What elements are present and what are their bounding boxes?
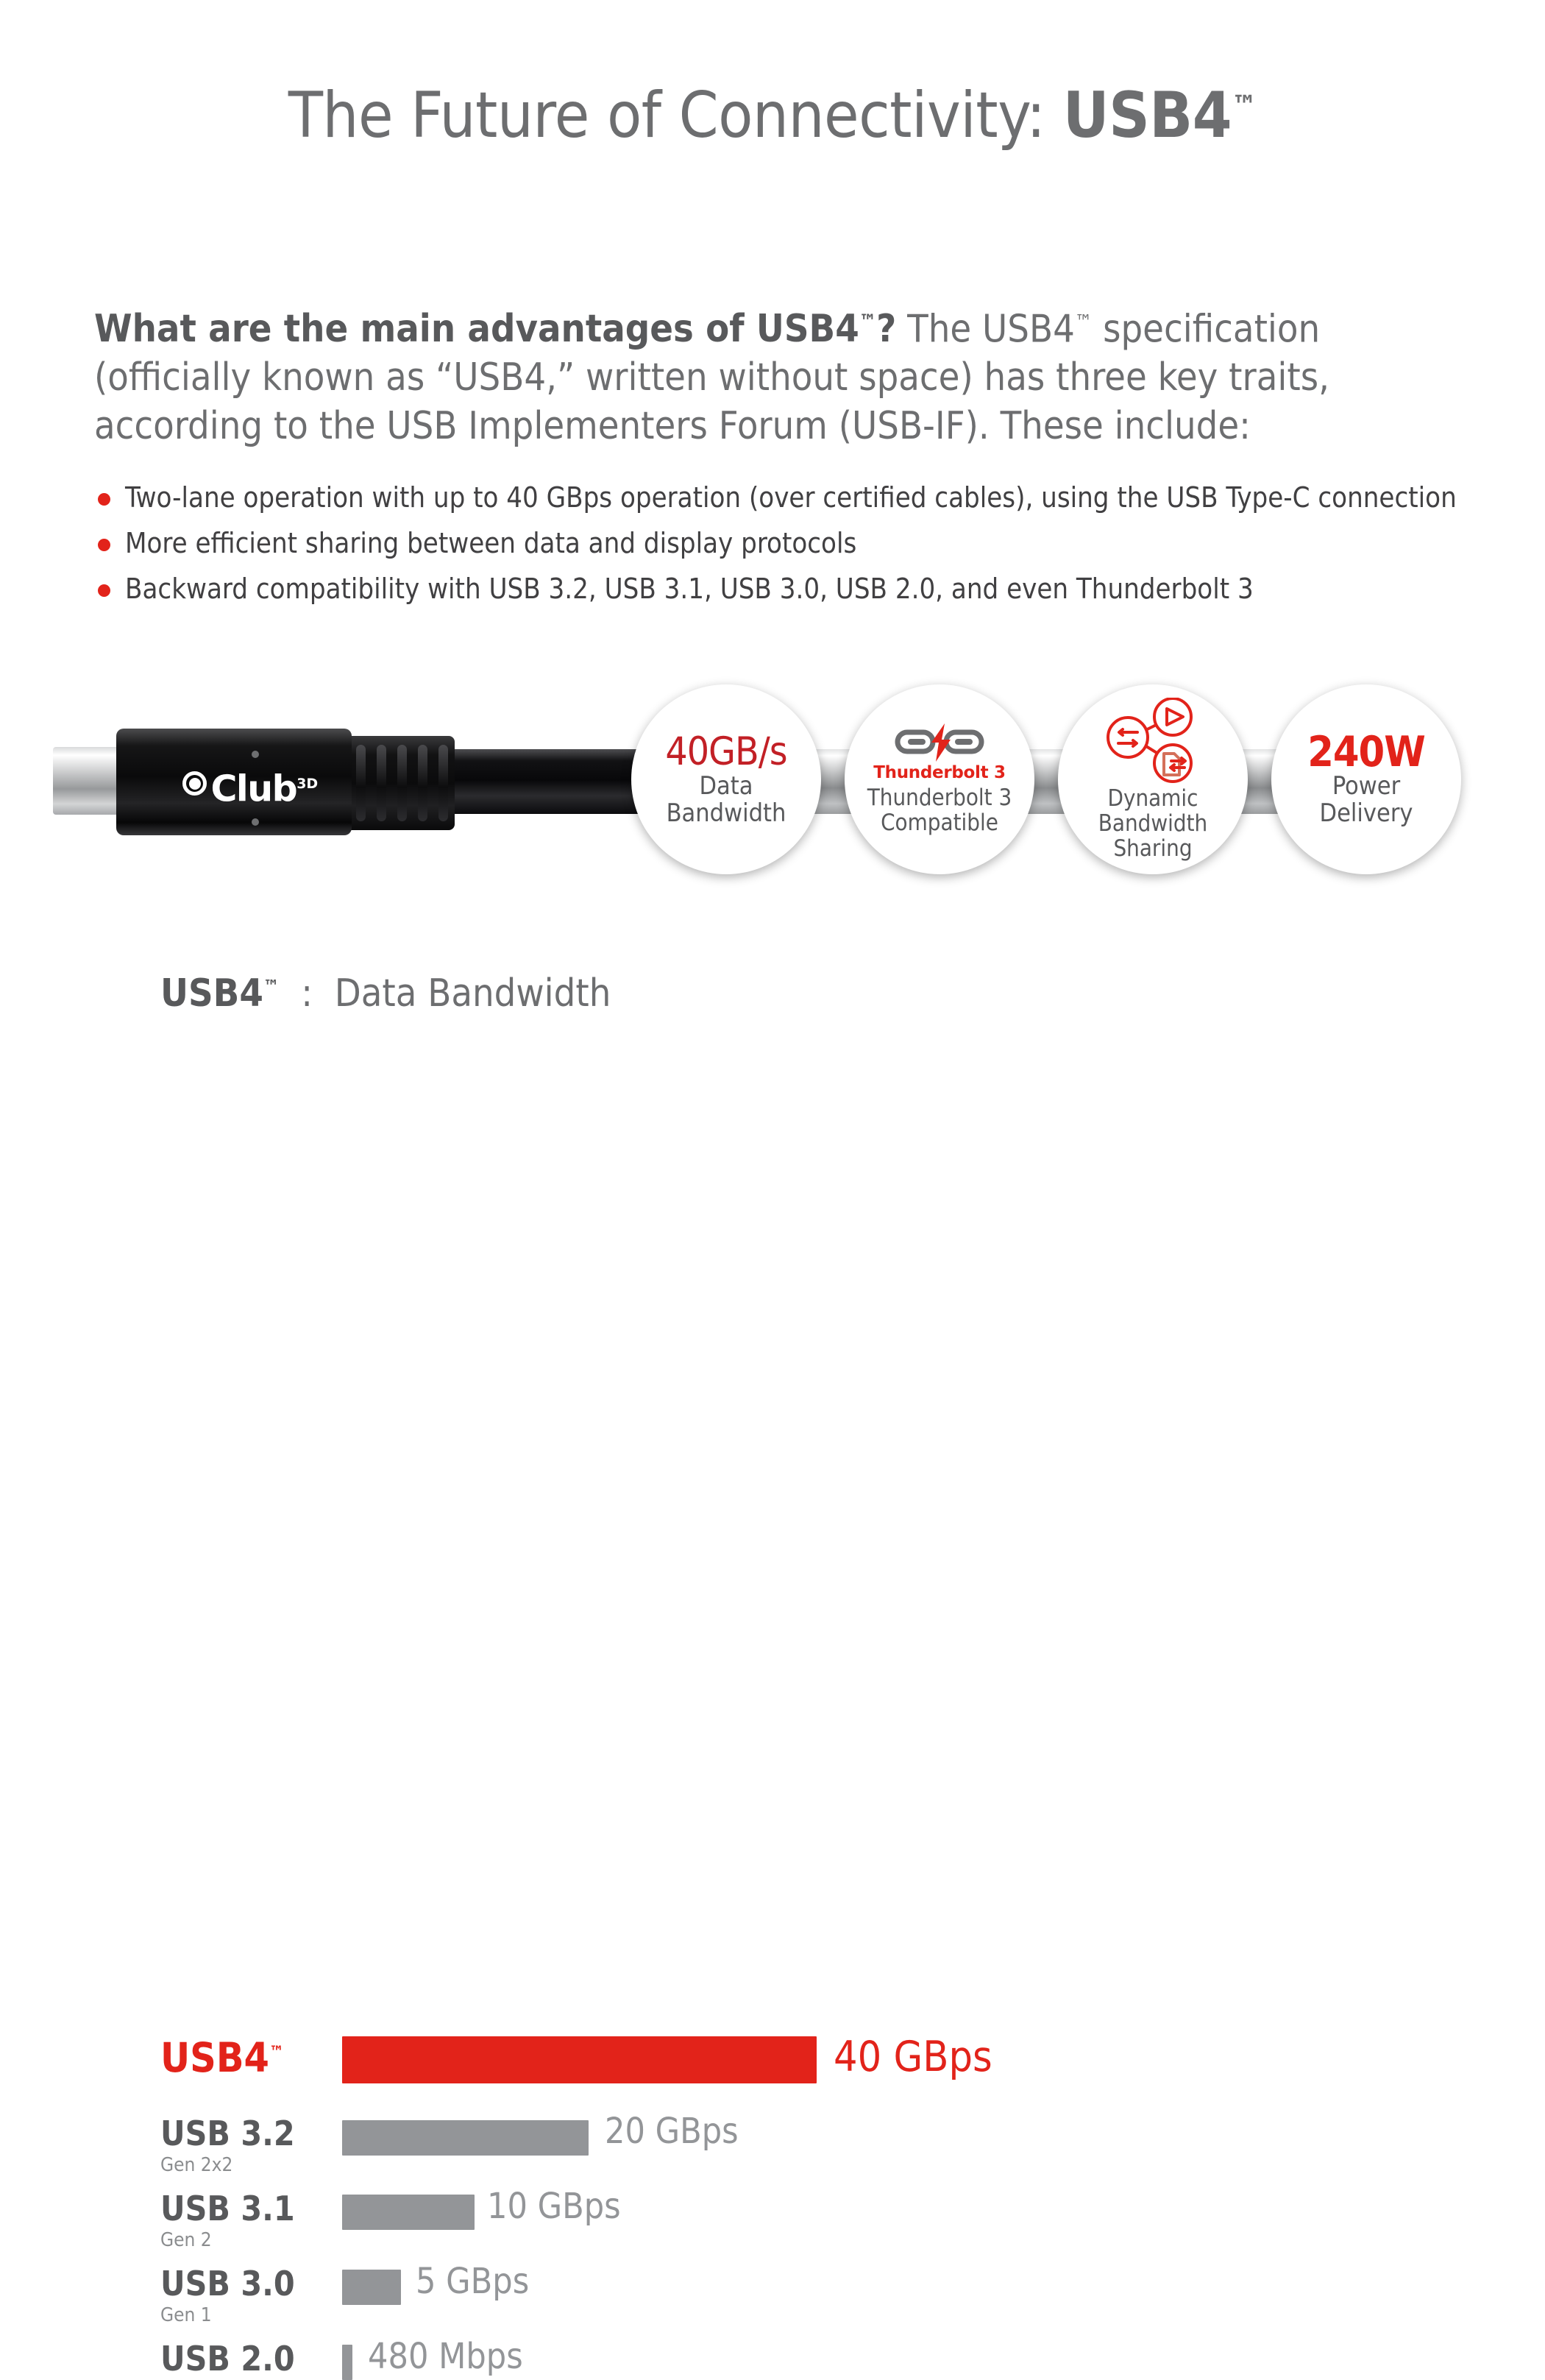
chart-title-separator: :: [301, 971, 313, 1016]
page-title-trademark: ™: [1232, 89, 1257, 121]
feature-circle-data-bandwidth: 40GB/s Data Bandwidth: [631, 684, 821, 874]
feature-caption-line-2: Compatible: [881, 810, 998, 835]
feature-circle-thunderbolt: Thunderbolt 3 Thunderbolt 3 Compatible: [845, 684, 1034, 874]
feature-caption-line-2: Bandwidth: [667, 800, 786, 827]
chart-bar-value: 20 GBps: [605, 2111, 739, 2152]
club3d-brand-sup: 3D: [296, 776, 318, 792]
chart-bar-value: 480 Mbps: [368, 2336, 523, 2377]
chart-row-sublabel: Gen 1: [160, 2304, 212, 2326]
chart-row-sublabel: Gen 2: [160, 2229, 212, 2251]
advantages-list: Two-lane operation with up to 40 GBps op…: [94, 475, 1477, 612]
list-item: More efficient sharing between data and …: [94, 520, 1477, 566]
share-network-icon: [1105, 698, 1201, 785]
thunderbolt-icon: [893, 723, 986, 762]
chart-bar: [342, 2345, 352, 2380]
thunderbolt-logo-text: Thunderbolt 3: [873, 763, 1005, 782]
club3d-brand-logo: CClub3D: [185, 764, 296, 804]
list-item: Backward compatibility with USB 3.2, USB…: [94, 566, 1477, 612]
chart-bar: [342, 2195, 475, 2230]
intro-question-mark: ?: [876, 307, 896, 351]
intro-question-trademark: ™: [859, 311, 876, 333]
chart-row-label: USB 3.2: [160, 2114, 295, 2153]
feature-headline: 240W: [1307, 732, 1425, 773]
chart-title-product: USB4: [160, 971, 263, 1016]
feature-caption-line-3: Sharing: [1113, 836, 1192, 861]
intro-paragraph: What are the main advantages of USB4™? T…: [94, 298, 1463, 450]
chart-row-label-trademark: ™: [269, 2044, 284, 2062]
bullet-dot-icon: [98, 584, 110, 597]
list-item: Two-lane operation with up to 40 GBps op…: [94, 475, 1477, 520]
connector-led-dot: [252, 818, 259, 826]
infographic-page: The Future of Connectivity: USB4™ What a…: [0, 0, 1545, 1545]
bullet-dot-icon: [98, 493, 110, 506]
chart-bar-value: 10 GBps: [487, 2186, 621, 2227]
club3d-brand-text: Club: [210, 768, 296, 810]
page-title-lead: The Future of Connectivity:: [288, 79, 1063, 152]
chart-bar-value: 40 GBps: [834, 2033, 992, 2081]
chart-bar: [342, 2270, 401, 2305]
feature-caption-line-2: Bandwidth: [1098, 811, 1208, 836]
feature-caption-line-1: Data: [699, 773, 753, 800]
chart-row-label: USB4™: [160, 2034, 284, 2081]
feature-caption-line-1: Thunderbolt 3: [867, 785, 1012, 810]
chart-bar-value: 5 GBps: [416, 2261, 529, 2302]
bullet-dot-icon: [98, 539, 110, 551]
intro-body-1: The USB4: [896, 307, 1075, 351]
page-title: The Future of Connectivity: USB4™: [0, 82, 1545, 149]
strain-rib: [418, 745, 427, 821]
feature-headline: 40GB/s: [665, 732, 786, 773]
chart-row-label: USB 3.0: [160, 2264, 295, 2303]
intro-question-text: What are the main advantages of USB4: [94, 307, 859, 351]
chart-bar: [342, 2120, 589, 2156]
strain-rib: [356, 745, 366, 821]
intro-body-trademark: ™: [1075, 311, 1092, 333]
chart-row-label: USB 3.1: [160, 2189, 295, 2228]
list-item-label: More efficient sharing between data and …: [125, 527, 856, 559]
chart-title-subject: Data Bandwidth: [335, 971, 611, 1016]
feature-caption-line-1: Power: [1332, 773, 1400, 800]
feature-circle-dynamic-sharing: Dynamic Bandwidth Sharing: [1058, 684, 1248, 874]
intro-question: What are the main advantages of USB4™?: [94, 307, 896, 351]
cable-black-segment: [441, 749, 662, 814]
chart-bar: [342, 2036, 817, 2083]
chart-row-label-text: USB4: [160, 2034, 269, 2081]
connector-led-dot: [252, 751, 259, 758]
feature-circle-power-delivery: 240W Power Delivery: [1271, 684, 1461, 874]
list-item-label: Backward compatibility with USB 3.2, USB…: [125, 573, 1254, 605]
list-item-label: Two-lane operation with up to 40 GBps op…: [125, 481, 1457, 514]
page-title-product: USB4: [1063, 79, 1232, 152]
strain-rib: [397, 745, 407, 821]
feature-caption-line-2: Delivery: [1320, 800, 1413, 827]
feature-caption-line-1: Dynamic: [1107, 786, 1198, 811]
strain-rib: [377, 745, 386, 821]
chart-title: USB4™ : Data Bandwidth: [160, 971, 611, 1016]
strain-rib: [438, 745, 448, 821]
chart-row-sublabel: Gen 2x2: [160, 2154, 232, 2176]
chart-title-trademark: ™: [263, 977, 280, 997]
chart-row-label: USB 2.0: [160, 2339, 295, 2379]
